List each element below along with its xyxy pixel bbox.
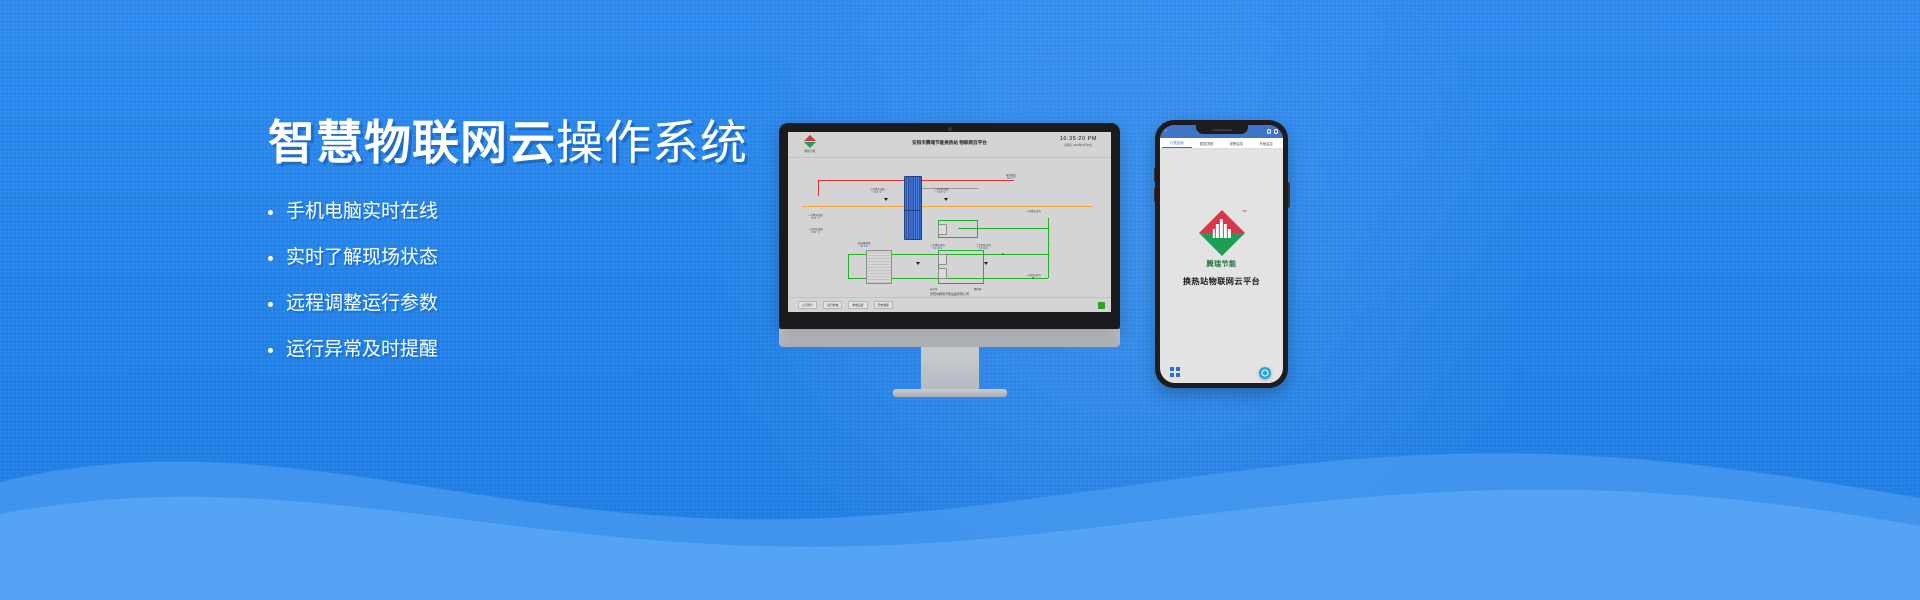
scada-footer: 公司简介 运行参数 参数设置 历史数据 xyxy=(788,297,1111,312)
app-tab-bar: 行表应用 数据流程 报警监控 托管监控 xyxy=(1160,138,1283,149)
wave-path-front xyxy=(0,490,1920,600)
status-badge xyxy=(1098,302,1105,309)
headline-bold: 智慧物联网云 xyxy=(268,116,556,169)
logo-bars-icon xyxy=(1212,219,1230,238)
tag-label: 补水泵 xyxy=(930,288,938,291)
scada-diagram: 二次供水温度 88.8 °C 二次回水温度 88.8 °C 一次供水温度 88.… xyxy=(788,158,1111,303)
smartphone-mockup: ‹ 安阳腾瑞节能好暖换热站 行表应用 数据流程 报警监控 托管监控 xyxy=(1155,120,1288,388)
tag-label: 二次回水温度 88.8 °C xyxy=(934,188,949,194)
footer-button-settings[interactable]: 参数设置 xyxy=(848,301,867,309)
valve-3 xyxy=(916,262,920,265)
valve-4 xyxy=(984,262,988,265)
settings-icon[interactable] xyxy=(1274,129,1279,134)
footer-button-params[interactable]: 运行参数 xyxy=(823,301,842,309)
pipe-segment xyxy=(848,254,849,278)
scada-footer-buttons: 公司简介 运行参数 参数设置 历史数据 xyxy=(798,301,893,309)
pump-3 xyxy=(938,268,947,279)
brand-diamond-icon: TM xyxy=(1199,210,1245,256)
scada-header: 腾瑞节能 安阳市腾瑞节能换热站 物联网云平台 16:35:20 PM 星期五 2… xyxy=(788,132,1111,158)
app-brand-name: 腾瑞节能 xyxy=(1199,259,1245,269)
footer-button-company[interactable]: 公司简介 xyxy=(798,301,817,309)
clock-time: 16:35:20 PM xyxy=(1060,136,1097,142)
tag-label: 一次回水压力 xyxy=(1026,274,1041,277)
tab-hosting[interactable]: 托管监控 xyxy=(1251,141,1281,146)
monitor-screen: 腾瑞节能 安阳市腾瑞节能换热站 物联网云平台 16:35:20 PM 星期五 2… xyxy=(788,132,1111,312)
phone-notch xyxy=(1196,125,1248,134)
list-item: 远程调整运行参数 xyxy=(268,294,788,313)
marketing-copy: 智慧物联网云操作系统 手机电脑实时在线 实时了解现场状态 远程调整运行参数 运行… xyxy=(268,117,788,386)
app-topbar-icons xyxy=(1267,129,1279,134)
scada-logo-text: 腾瑞节能 xyxy=(800,149,820,153)
pump-2 xyxy=(938,254,947,265)
tag-label: 软水箱液位 88.8 % xyxy=(858,242,871,248)
app-bottom-bar xyxy=(1160,347,1283,383)
tag-label: 一次供水压力 xyxy=(1026,210,1041,213)
pipe-return-warm xyxy=(802,206,1092,207)
monitor-stand xyxy=(921,347,979,389)
monitor-chin xyxy=(779,329,1120,347)
app-platform-title: 换热站物联网云平台 xyxy=(1183,275,1260,287)
water-tank xyxy=(866,250,892,284)
phone-power-button[interactable] xyxy=(1288,182,1290,208)
heat-exchanger-2 xyxy=(904,210,922,240)
speaker-icon xyxy=(1212,129,1232,131)
tab-data-flow[interactable]: 数据流程 xyxy=(1192,141,1222,146)
tag-label: 一次供水温度 88.8 °C xyxy=(808,214,823,220)
footer-button-history[interactable]: 历史数据 xyxy=(874,301,893,309)
desktop-monitor-mockup: 腾瑞节能 安阳市腾瑞节能换热站 物联网云平台 16:35:20 PM 星期五 2… xyxy=(779,123,1120,397)
wave-svg xyxy=(0,410,1920,600)
tab-realtime[interactable]: 行表应用 xyxy=(1162,138,1192,148)
app-main-content: TM 腾瑞节能 换热站物联网云平台 xyxy=(1160,149,1283,347)
monitor-base xyxy=(893,389,1007,397)
list-item: 运行异常及时提醒 xyxy=(268,340,788,359)
phone-volume-up-button[interactable] xyxy=(1154,168,1156,182)
scada-clock: 16:35:20 PM 星期五 2020年04月03日 xyxy=(1060,136,1097,147)
webcam-icon xyxy=(948,127,952,131)
list-item: 实时了解现场状态 xyxy=(268,248,788,267)
tag-label: 室外温度 88.8 °C xyxy=(1006,174,1016,180)
clock-date: 星期五 2020年04月03日 xyxy=(1060,143,1097,147)
phone-volume-down-button[interactable] xyxy=(1154,188,1156,202)
page-title: 智慧物联网云操作系统 xyxy=(268,117,788,169)
trademark-label: TM xyxy=(1242,209,1246,213)
valve-1 xyxy=(884,198,888,201)
headline-thin: 操作系统 xyxy=(556,116,748,169)
list-item: 手机电脑实时在线 xyxy=(268,202,788,221)
valve-2 xyxy=(944,198,948,201)
phone-screen: ‹ 安阳腾瑞节能好暖换热站 行表应用 数据流程 报警监控 托管监控 xyxy=(1160,125,1283,383)
app-logo: TM 腾瑞节能 xyxy=(1199,210,1245,269)
tab-alarm[interactable]: 报警监控 xyxy=(1222,141,1252,146)
hero-banner: 智慧物联网云操作系统 手机电脑实时在线 实时了解现场状态 远程调整运行参数 运行… xyxy=(0,0,1920,600)
location-icon[interactable] xyxy=(1259,367,1271,379)
pipe-segment xyxy=(1048,218,1049,278)
tag-label: 循环泵 xyxy=(974,288,982,291)
monitor-bezel: 腾瑞节能 安阳市腾瑞节能换热站 物联网云平台 16:35:20 PM 星期五 2… xyxy=(779,123,1120,329)
tag-label: 一次回水温度 88.8 °C xyxy=(808,228,823,234)
pipe-segment xyxy=(818,180,819,196)
decorative-wave xyxy=(0,410,1920,600)
refresh-icon[interactable] xyxy=(1267,129,1272,134)
tag-label: 二次供水温度 88.8 °C xyxy=(870,188,885,194)
feature-list: 手机电脑实时在线 实时了解现场状态 远程调整运行参数 运行异常及时提醒 xyxy=(268,202,788,359)
pump-1 xyxy=(938,224,947,235)
chevron-left-icon[interactable]: ‹ xyxy=(1165,129,1167,134)
scada-company-name: 安阳市腾瑞节能设备有限公司 xyxy=(788,292,1111,296)
tag-label: 二次回水压力 8.8 MPa xyxy=(976,244,991,250)
apps-grid-icon[interactable] xyxy=(1170,367,1180,377)
phone-body: ‹ 安阳腾瑞节能好暖换热站 行表应用 数据流程 报警监控 托管监控 xyxy=(1155,120,1288,388)
tag-label: 二次供水压力 8.8 MPa xyxy=(930,244,945,250)
